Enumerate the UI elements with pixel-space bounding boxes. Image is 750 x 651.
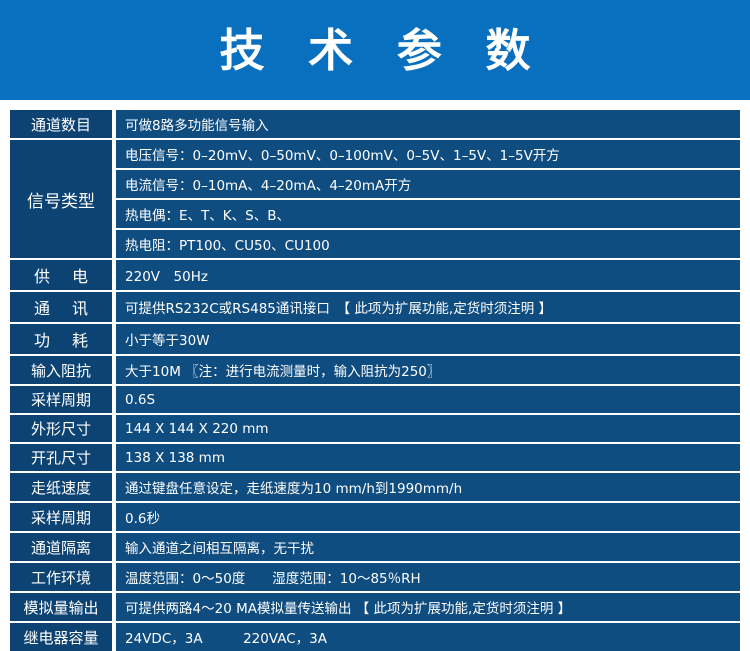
spec-label-cell: 模拟量输出 bbox=[10, 593, 116, 623]
spec-label-cell: 开孔尺寸 bbox=[10, 444, 116, 473]
spec-label-cell: 信号类型 bbox=[10, 140, 116, 260]
spec-value-cell: 0.6秒 bbox=[116, 503, 740, 533]
spec-label-cell: 功耗 bbox=[10, 324, 116, 356]
table-row: 模拟量输出可提供两路4～20 MA模拟量传送输出 【 此项为扩展功能,定货时须注… bbox=[10, 593, 740, 623]
spec-value-cell: 可提供RS232C或RS485通讯接口 【 此项为扩展功能,定货时须注明 】 bbox=[116, 292, 740, 324]
spec-value-cell: 热电阻：PT100、CU50、CU100 bbox=[116, 230, 740, 260]
page-header-banner: 技 术 参 数 bbox=[0, 0, 750, 100]
table-row: 电流信号：0–10mA、4–20mA、4–20mA开方 bbox=[10, 170, 740, 200]
table-row: 热电阻：PT100、CU50、CU100 bbox=[10, 230, 740, 260]
spec-value-cell: 大于10M 〖注：进行电流测量时，输入阻抗为250〗 bbox=[116, 356, 740, 386]
spec-value-cell: 电压信号：0–20mV、0–50mV、0–100mV、0–5V、1–5V、1–5… bbox=[116, 140, 740, 170]
table-row: 采样周期0.6秒 bbox=[10, 503, 740, 533]
spec-value-cell: 144 X 144 X 220 mm bbox=[116, 415, 740, 444]
spec-label-cell: 输入阻抗 bbox=[10, 356, 116, 386]
spec-label-cell: 通讯 bbox=[10, 292, 116, 324]
table-row: 通道数目可做8路多功能信号输入 bbox=[10, 110, 740, 140]
spec-value-cell: 小于等于30W bbox=[116, 324, 740, 356]
spec-label-cell: 外形尺寸 bbox=[10, 415, 116, 444]
spec-label-cell: 走纸速度 bbox=[10, 473, 116, 503]
table-row: 采样周期0.6S bbox=[10, 386, 740, 415]
spec-value-cell: 通过键盘任意设定，走纸速度为10 mm/h到1990mm/h bbox=[116, 473, 740, 503]
table-row: 信号类型电压信号：0–20mV、0–50mV、0–100mV、0–5V、1–5V… bbox=[10, 140, 740, 170]
spec-label-cell: 工作环境 bbox=[10, 563, 116, 593]
table-row: 开孔尺寸138 X 138 mm bbox=[10, 444, 740, 473]
spec-label-cell: 供电 bbox=[10, 260, 116, 292]
table-row: 输入阻抗大于10M 〖注：进行电流测量时，输入阻抗为250〗 bbox=[10, 356, 740, 386]
spec-label-cell: 采样周期 bbox=[10, 386, 116, 415]
spec-value-cell: 0.6S bbox=[116, 386, 740, 415]
spec-value-cell: 可做8路多功能信号输入 bbox=[116, 110, 740, 140]
spec-label-cell: 继电器容量 bbox=[10, 623, 116, 651]
spec-sheet-page: 技 术 参 数 通道数目可做8路多功能信号输入信号类型电压信号：0–20mV、0… bbox=[0, 0, 750, 622]
spec-label-cell: 通道数目 bbox=[10, 110, 116, 140]
table-row: 通讯可提供RS232C或RS485通讯接口 【 此项为扩展功能,定货时须注明 】 bbox=[10, 292, 740, 324]
spec-value-cell: 可提供两路4～20 MA模拟量传送输出 【 此项为扩展功能,定货时须注明 】 bbox=[116, 593, 740, 623]
spec-value-cell: 输入通道之间相互隔离，无干扰 bbox=[116, 533, 740, 563]
table-row: 功耗小于等于30W bbox=[10, 324, 740, 356]
spec-table-body: 通道数目可做8路多功能信号输入信号类型电压信号：0–20mV、0–50mV、0–… bbox=[10, 110, 740, 651]
technical-spec-table: 通道数目可做8路多功能信号输入信号类型电压信号：0–20mV、0–50mV、0–… bbox=[10, 110, 740, 651]
spec-label-cell: 通道隔离 bbox=[10, 533, 116, 563]
table-row: 走纸速度通过键盘任意设定，走纸速度为10 mm/h到1990mm/h bbox=[10, 473, 740, 503]
page-title: 技 术 参 数 bbox=[206, 28, 545, 73]
table-row: 外形尺寸144 X 144 X 220 mm bbox=[10, 415, 740, 444]
spec-value-cell: 24VDC，3A 220VAC，3A bbox=[116, 623, 740, 651]
spec-value-cell: 220V 50Hz bbox=[116, 260, 740, 292]
table-row: 继电器容量24VDC，3A 220VAC，3A bbox=[10, 623, 740, 651]
spec-label-cell: 采样周期 bbox=[10, 503, 116, 533]
table-row: 热电偶：E、T、K、S、B、 bbox=[10, 200, 740, 230]
table-row: 工作环境温度范围：0～50度 湿度范围：10～85％RH bbox=[10, 563, 740, 593]
spec-value-cell: 138 X 138 mm bbox=[116, 444, 740, 473]
spec-value-cell: 电流信号：0–10mA、4–20mA、4–20mA开方 bbox=[116, 170, 740, 200]
spec-value-cell: 热电偶：E、T、K、S、B、 bbox=[116, 200, 740, 230]
table-row: 供电220V 50Hz bbox=[10, 260, 740, 292]
table-row: 通道隔离输入通道之间相互隔离，无干扰 bbox=[10, 533, 740, 563]
spec-value-cell: 温度范围：0～50度 湿度范围：10～85％RH bbox=[116, 563, 740, 593]
